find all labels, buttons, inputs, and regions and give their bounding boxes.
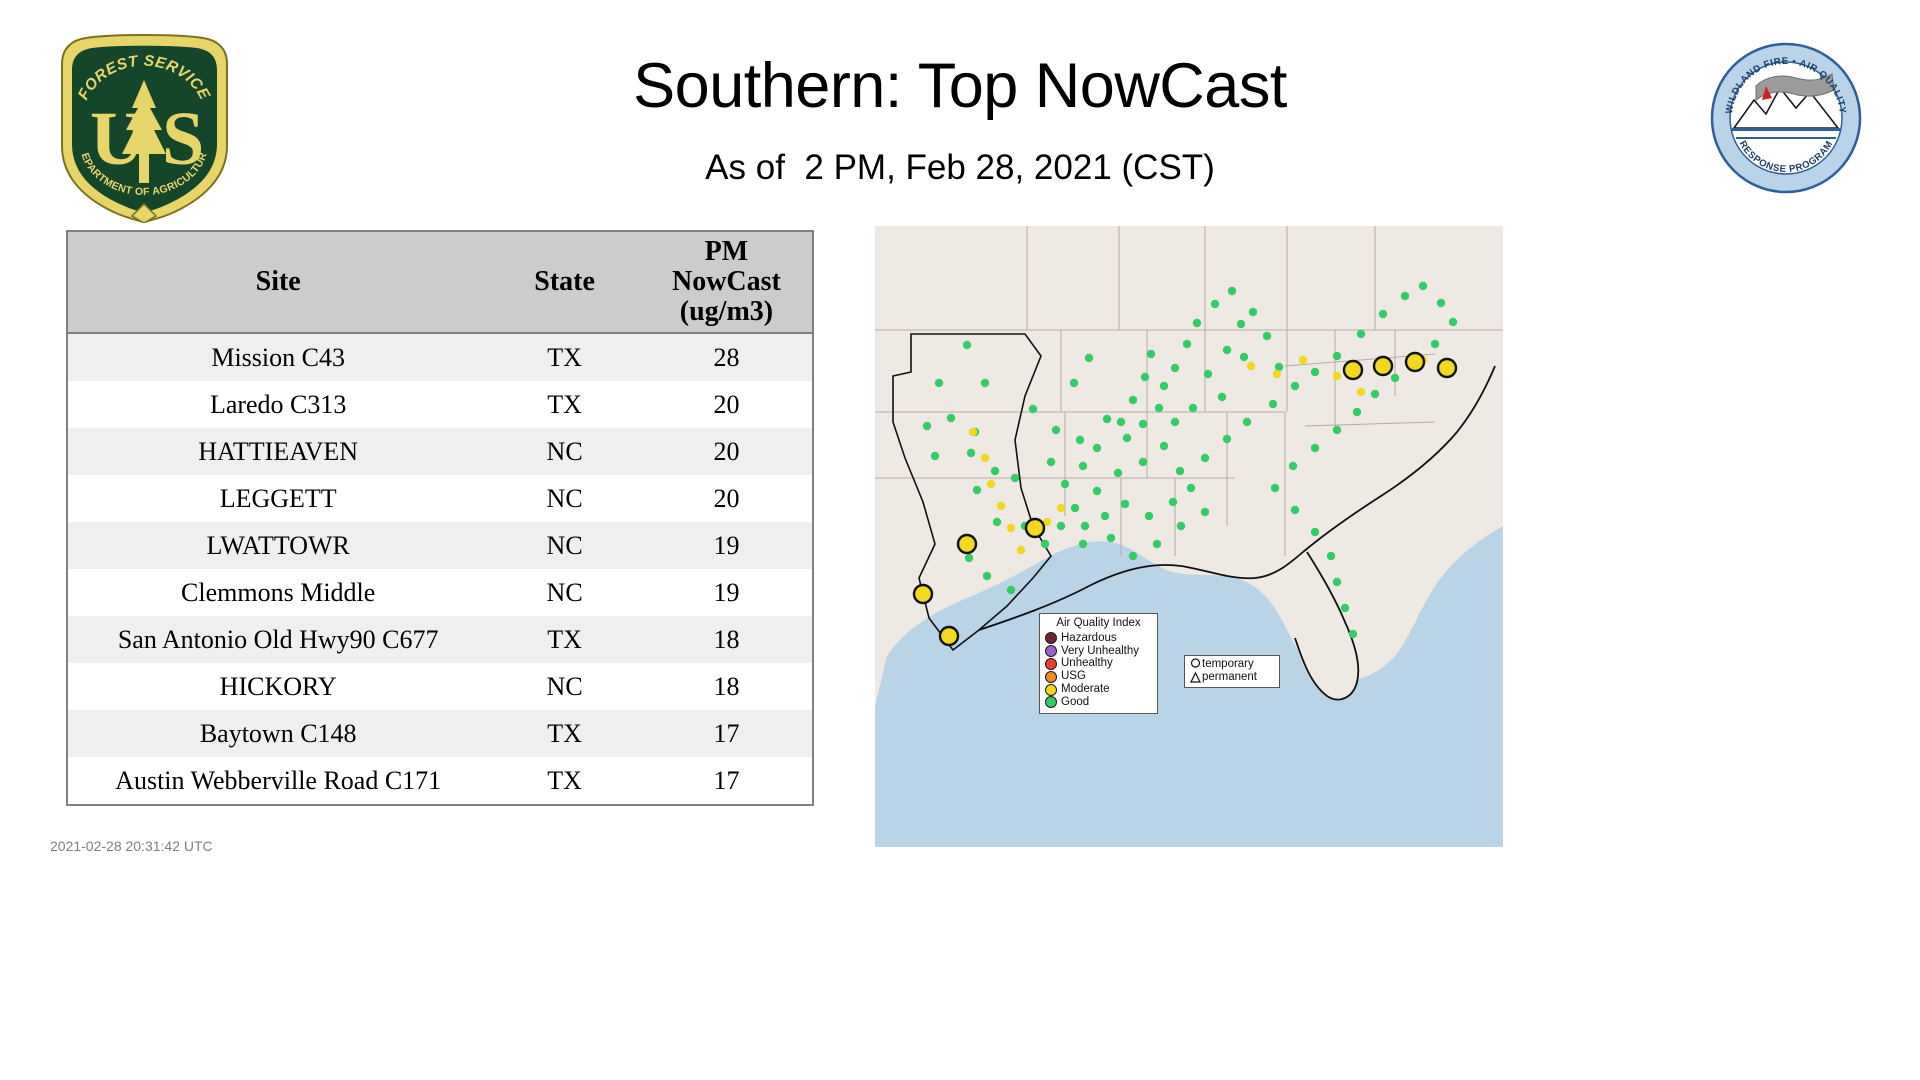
aqi-color-swatch-icon	[1045, 645, 1057, 657]
state-cell: TX	[488, 333, 641, 381]
aqi-legend-item: Very Unhealthy	[1045, 645, 1152, 658]
pm-nowcast-cell: 28	[641, 333, 812, 381]
good-aqi-marker[interactable]	[1061, 480, 1069, 488]
good-aqi-marker[interactable]	[1145, 512, 1153, 520]
column-header-pm-line-1: PM	[641, 237, 812, 267]
good-aqi-marker[interactable]	[1171, 364, 1179, 372]
good-aqi-marker[interactable]	[1193, 319, 1201, 327]
aqi-legend-title: Air Quality Index	[1045, 617, 1152, 630]
good-aqi-marker[interactable]	[1171, 418, 1179, 426]
state-cell: TX	[488, 616, 641, 663]
good-aqi-marker[interactable]	[983, 572, 991, 580]
page-subtitle: As of 2 PM, Feb 28, 2021 (CST)	[300, 148, 1620, 188]
column-header-pm-line-3: (ug/m3)	[641, 297, 812, 327]
good-aqi-marker[interactable]	[1041, 540, 1049, 548]
aqi-color-swatch-icon	[1045, 696, 1057, 708]
air-quality-monitor-map[interactable]	[875, 226, 1503, 847]
good-aqi-marker[interactable]	[923, 422, 931, 430]
good-aqi-marker[interactable]	[1079, 462, 1087, 470]
table-row: HATTIEAVENNC20	[68, 428, 812, 475]
good-aqi-marker[interactable]	[1391, 374, 1399, 382]
good-aqi-marker[interactable]	[991, 467, 999, 475]
good-aqi-marker[interactable]	[1263, 332, 1271, 340]
table-row: Clemmons MiddleNC19	[68, 569, 812, 616]
moderate-aqi-marker-large[interactable]	[1406, 353, 1424, 371]
moderate-aqi-marker[interactable]	[1299, 356, 1307, 364]
good-aqi-marker[interactable]	[1093, 487, 1101, 495]
table-row: Laredo C313TX20	[68, 381, 812, 428]
moderate-aqi-marker[interactable]	[1057, 504, 1065, 512]
good-aqi-marker[interactable]	[1129, 552, 1137, 560]
pm-nowcast-cell: 19	[641, 522, 812, 569]
good-aqi-marker[interactable]	[931, 452, 939, 460]
good-aqi-marker[interactable]	[1029, 405, 1037, 413]
good-aqi-marker[interactable]	[1437, 299, 1445, 307]
legend-temporary-label: temporary	[1202, 658, 1254, 671]
good-aqi-marker[interactable]	[1047, 458, 1055, 466]
good-aqi-marker[interactable]	[1187, 484, 1195, 492]
good-aqi-marker[interactable]	[1070, 379, 1078, 387]
good-aqi-marker[interactable]	[1269, 400, 1277, 408]
moderate-aqi-marker[interactable]	[1273, 370, 1281, 378]
good-aqi-marker[interactable]	[1289, 462, 1297, 470]
good-aqi-marker[interactable]	[1057, 522, 1065, 530]
state-cell: NC	[488, 569, 641, 616]
pm-nowcast-cell: 20	[641, 428, 812, 475]
good-aqi-marker[interactable]	[1419, 282, 1427, 290]
pm-nowcast-cell: 19	[641, 569, 812, 616]
us-forest-service-shield-logo: FOREST SERVICE U S DEPARTMENT OF AGRICUL…	[52, 28, 237, 223]
good-aqi-marker[interactable]	[1103, 415, 1111, 423]
good-aqi-marker[interactable]	[1093, 444, 1101, 452]
site-cell: HICKORY	[68, 663, 488, 710]
good-aqi-marker[interactable]	[1201, 454, 1209, 462]
good-aqi-marker[interactable]	[1201, 508, 1209, 516]
good-aqi-marker[interactable]	[1139, 458, 1147, 466]
good-aqi-marker[interactable]	[1271, 484, 1279, 492]
site-cell: Laredo C313	[68, 381, 488, 428]
good-aqi-marker[interactable]	[1327, 552, 1335, 560]
table-row: Austin Webberville Road C171TX17	[68, 757, 812, 804]
good-aqi-marker[interactable]	[1079, 540, 1087, 548]
good-aqi-marker[interactable]	[1011, 474, 1019, 482]
column-header-state: State	[488, 232, 641, 333]
legend-permanent: permanent	[1189, 671, 1275, 684]
good-aqi-marker[interactable]	[965, 554, 973, 562]
aqi-color-swatch-icon	[1045, 684, 1057, 696]
good-aqi-marker[interactable]	[1129, 396, 1137, 404]
good-aqi-marker[interactable]	[1311, 444, 1319, 452]
good-aqi-marker[interactable]	[1121, 500, 1129, 508]
good-aqi-marker[interactable]	[1379, 310, 1387, 318]
site-cell: Clemmons Middle	[68, 569, 488, 616]
good-aqi-marker[interactable]	[1223, 346, 1231, 354]
moderate-aqi-marker[interactable]	[1333, 372, 1341, 380]
state-cell: TX	[488, 757, 641, 804]
moderate-aqi-marker[interactable]	[969, 428, 977, 436]
moderate-aqi-marker-large[interactable]	[1374, 357, 1392, 375]
good-aqi-marker[interactable]	[1007, 586, 1015, 594]
generated-timestamp: 2021-02-28 20:31:42 UTC	[50, 838, 213, 854]
good-aqi-marker[interactable]	[1218, 393, 1226, 401]
good-aqi-marker[interactable]	[1101, 512, 1109, 520]
top-nowcast-table: Site State PM NowCast (ug/m3) Mission C4…	[66, 230, 814, 806]
moderate-aqi-marker-large[interactable]	[914, 585, 932, 603]
table-header-row: Site State PM NowCast (ug/m3)	[68, 232, 812, 333]
temporary-circle-icon	[1189, 658, 1202, 671]
good-aqi-marker[interactable]	[1333, 426, 1341, 434]
aqi-color-swatch-icon	[1045, 671, 1057, 683]
good-aqi-marker[interactable]	[1153, 540, 1161, 548]
good-aqi-marker[interactable]	[1147, 350, 1155, 358]
good-aqi-marker[interactable]	[1333, 578, 1341, 586]
good-aqi-marker[interactable]	[1107, 534, 1115, 542]
good-aqi-marker[interactable]	[1141, 373, 1149, 381]
site-cell: Mission C43	[68, 333, 488, 381]
marker-shape-legend: temporary permanent	[1184, 655, 1280, 688]
good-aqi-marker[interactable]	[1160, 382, 1168, 390]
moderate-aqi-marker-large[interactable]	[1344, 361, 1362, 379]
aqi-legend-item-label: Hazardous	[1061, 632, 1117, 645]
column-header-pm-line-2: NowCast	[641, 267, 812, 297]
moderate-aqi-marker-large[interactable]	[958, 535, 976, 553]
good-aqi-marker[interactable]	[1240, 353, 1248, 361]
good-aqi-marker[interactable]	[1357, 330, 1365, 338]
good-aqi-marker[interactable]	[935, 379, 943, 387]
good-aqi-marker[interactable]	[1176, 467, 1184, 475]
moderate-aqi-marker[interactable]	[1247, 362, 1255, 370]
table-row: LEGGETTNC20	[68, 475, 812, 522]
good-aqi-marker[interactable]	[1169, 498, 1177, 506]
aqi-legend: Air Quality Index HazardousVery Unhealth…	[1039, 613, 1158, 714]
aqi-legend-item-label: Good	[1061, 696, 1089, 709]
moderate-aqi-marker-large[interactable]	[940, 627, 958, 645]
good-aqi-marker[interactable]	[1211, 300, 1219, 308]
good-aqi-marker[interactable]	[1223, 435, 1231, 443]
table-row: Baytown C148TX17	[68, 710, 812, 757]
site-cell: LEGGETT	[68, 475, 488, 522]
good-aqi-marker[interactable]	[1183, 340, 1191, 348]
good-aqi-marker[interactable]	[981, 379, 989, 387]
table-row: HICKORYNC18	[68, 663, 812, 710]
moderate-aqi-marker[interactable]	[981, 454, 989, 462]
moderate-aqi-marker[interactable]	[1017, 546, 1025, 554]
aqi-legend-item: Hazardous	[1045, 632, 1152, 645]
good-aqi-marker[interactable]	[1291, 382, 1299, 390]
good-aqi-marker[interactable]	[967, 449, 975, 457]
good-aqi-marker[interactable]	[947, 414, 955, 422]
good-aqi-marker[interactable]	[1291, 506, 1299, 514]
good-aqi-marker[interactable]	[1123, 434, 1131, 442]
good-aqi-marker[interactable]	[1401, 292, 1409, 300]
pm-nowcast-cell: 17	[641, 710, 812, 757]
page-header: FOREST SERVICE U S DEPARTMENT OF AGRICUL…	[0, 0, 1920, 230]
moderate-aqi-marker[interactable]	[1007, 524, 1015, 532]
site-cell: San Antonio Old Hwy90 C677	[68, 616, 488, 663]
pm-nowcast-cell: 20	[641, 381, 812, 428]
good-aqi-marker[interactable]	[1349, 630, 1357, 638]
legend-temporary: temporary	[1189, 658, 1275, 671]
column-header-site: Site	[68, 232, 488, 333]
permanent-triangle-icon	[1189, 671, 1202, 684]
good-aqi-marker[interactable]	[1204, 370, 1212, 378]
moderate-aqi-marker[interactable]	[1357, 388, 1365, 396]
good-aqi-marker[interactable]	[1311, 368, 1319, 376]
moderate-aqi-marker[interactable]	[997, 502, 1005, 510]
good-aqi-marker[interactable]	[1371, 390, 1379, 398]
pm-nowcast-cell: 17	[641, 757, 812, 804]
good-aqi-marker[interactable]	[1228, 287, 1236, 295]
good-aqi-marker[interactable]	[1341, 604, 1349, 612]
good-aqi-marker[interactable]	[1052, 426, 1060, 434]
good-aqi-marker[interactable]	[1139, 420, 1147, 428]
good-aqi-marker[interactable]	[963, 341, 971, 349]
wildland-fire-air-quality-response-program-logo: WILDLAND FIRE • AIR QUALITY RESPONSE PRO…	[1710, 42, 1862, 194]
site-cell: Austin Webberville Road C171	[68, 757, 488, 804]
site-cell: Baytown C148	[68, 710, 488, 757]
good-aqi-marker[interactable]	[1177, 522, 1185, 530]
good-aqi-marker[interactable]	[1155, 404, 1163, 412]
good-aqi-marker[interactable]	[1071, 504, 1079, 512]
aqi-legend-item-label: Moderate	[1061, 683, 1110, 696]
good-aqi-marker[interactable]	[1117, 418, 1125, 426]
pm-nowcast-cell: 20	[641, 475, 812, 522]
aqi-legend-item: Moderate	[1045, 683, 1152, 696]
state-cell: TX	[488, 710, 641, 757]
aqi-legend-item: Good	[1045, 696, 1152, 709]
aqi-legend-item-label: USG	[1061, 670, 1086, 683]
aqi-legend-item-label: Unhealthy	[1061, 657, 1113, 670]
page-title: Southern: Top NowCast	[300, 50, 1620, 122]
good-aqi-marker[interactable]	[1114, 469, 1122, 477]
aqi-color-swatch-icon	[1045, 658, 1057, 670]
table-row: LWATTOWRNC19	[68, 522, 812, 569]
good-aqi-marker[interactable]	[973, 486, 981, 494]
moderate-aqi-marker-large[interactable]	[1026, 519, 1044, 537]
table-row: Mission C43TX28	[68, 333, 812, 381]
state-cell: NC	[488, 475, 641, 522]
aqi-legend-item-label: Very Unhealthy	[1061, 645, 1139, 658]
good-aqi-marker[interactable]	[1237, 320, 1245, 328]
good-aqi-marker[interactable]	[1249, 308, 1257, 316]
good-aqi-marker[interactable]	[1081, 522, 1089, 530]
good-aqi-marker[interactable]	[1160, 442, 1168, 450]
good-aqi-marker[interactable]	[993, 518, 1001, 526]
good-aqi-marker[interactable]	[1085, 354, 1093, 362]
legend-permanent-label: permanent	[1202, 671, 1257, 684]
good-aqi-marker[interactable]	[1243, 418, 1251, 426]
pm-nowcast-cell: 18	[641, 663, 812, 710]
column-header-pm-nowcast: PM NowCast (ug/m3)	[641, 232, 812, 333]
good-aqi-marker[interactable]	[1449, 318, 1457, 326]
good-aqi-marker[interactable]	[1189, 404, 1197, 412]
aqi-legend-item: Unhealthy	[1045, 657, 1152, 670]
good-aqi-marker[interactable]	[1353, 408, 1361, 416]
moderate-aqi-marker-large[interactable]	[1438, 359, 1456, 377]
state-cell: NC	[488, 428, 641, 475]
table-row: San Antonio Old Hwy90 C677TX18	[68, 616, 812, 663]
state-cell: TX	[488, 381, 641, 428]
good-aqi-marker[interactable]	[1076, 436, 1084, 444]
site-cell: HATTIEAVEN	[68, 428, 488, 475]
aqi-legend-item: USG	[1045, 670, 1152, 683]
good-aqi-marker[interactable]	[1333, 352, 1341, 360]
state-cell: NC	[488, 522, 641, 569]
moderate-aqi-marker[interactable]	[987, 480, 995, 488]
good-aqi-marker[interactable]	[1311, 528, 1319, 536]
pm-nowcast-cell: 18	[641, 616, 812, 663]
good-aqi-marker[interactable]	[1431, 340, 1439, 348]
state-cell: NC	[488, 663, 641, 710]
site-cell: LWATTOWR	[68, 522, 488, 569]
aqi-color-swatch-icon	[1045, 632, 1057, 644]
